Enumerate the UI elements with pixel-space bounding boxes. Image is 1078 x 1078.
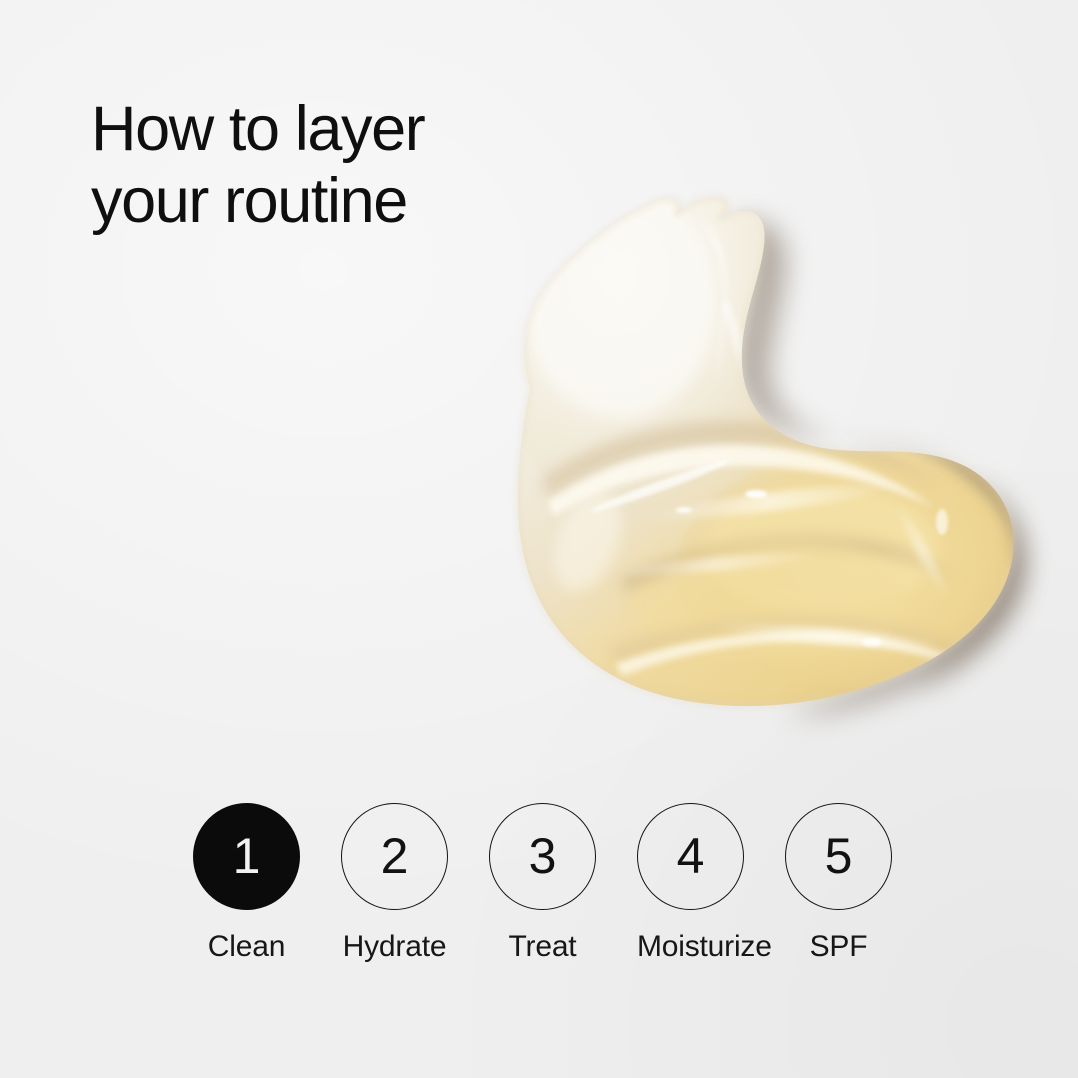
step-label-clean: Clean: [193, 932, 300, 962]
cream-swatch-image: [470, 150, 1070, 760]
step-circle-1[interactable]: 1: [193, 803, 300, 910]
step-item-spf[interactable]: 5 SPF: [785, 803, 892, 962]
step-label-spf: SPF: [785, 932, 892, 962]
step-item-clean[interactable]: 1 Clean: [193, 803, 300, 962]
step-circle-4[interactable]: 4: [637, 803, 744, 910]
step-number-1: 1: [233, 831, 261, 881]
step-circle-2[interactable]: 2: [341, 803, 448, 910]
poster-canvas: How to layer your routine 1 Clean 2 Hydr…: [0, 0, 1078, 1078]
step-label-hydrate: Hydrate: [341, 932, 448, 962]
step-label-moisturize: Moisturize: [637, 932, 744, 962]
swatch-body: [498, 168, 1030, 720]
step-item-treat[interactable]: 3 Treat: [489, 803, 596, 962]
step-label-treat: Treat: [489, 932, 596, 962]
step-circle-3[interactable]: 3: [489, 803, 596, 910]
step-item-hydrate[interactable]: 2 Hydrate: [341, 803, 448, 962]
step-item-moisturize[interactable]: 4 Moisturize: [637, 803, 744, 962]
step-number-4: 4: [677, 831, 705, 881]
step-number-5: 5: [825, 831, 853, 881]
step-number-2: 2: [381, 831, 409, 881]
step-circle-5[interactable]: 5: [785, 803, 892, 910]
step-number-3: 3: [529, 831, 557, 881]
page-title: How to layer your routine: [91, 93, 424, 237]
routine-step-list: 1 Clean 2 Hydrate 3 Treat 4 Moisturize 5: [193, 803, 893, 993]
